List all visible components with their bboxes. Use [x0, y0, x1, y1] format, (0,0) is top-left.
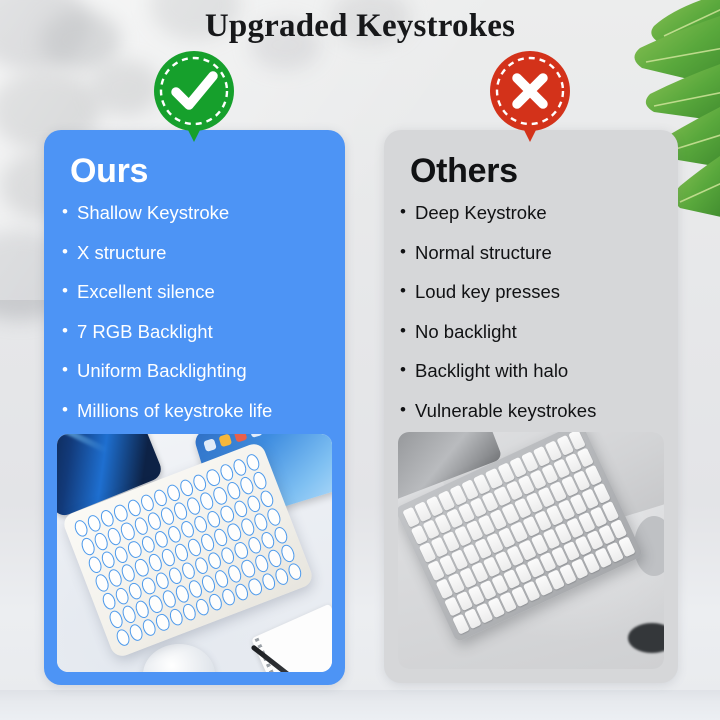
- list-item: Millions of keystroke life: [62, 400, 334, 421]
- check-circle-icon: [153, 50, 235, 146]
- list-item: Vulnerable keystrokes: [400, 400, 672, 421]
- list-item: Uniform Backlighting: [62, 360, 334, 381]
- floor-line: [0, 690, 720, 720]
- infographic-page: Upgraded Keystrokes Ours Shallow Keystro…: [0, 0, 720, 720]
- list-item: Loud key presses: [400, 281, 672, 302]
- list-item: Backlight with halo: [400, 360, 672, 381]
- list-item: Excellent silence: [62, 281, 334, 302]
- list-item: 7 RGB Backlight: [62, 321, 334, 342]
- cross-circle-icon: [489, 50, 571, 146]
- others-keyboard-photo: [398, 432, 664, 669]
- feature-list-ours: Shallow Keystroke X structure Excellent …: [62, 202, 334, 439]
- list-item: Normal structure: [400, 242, 672, 263]
- card-heading-others: Others: [410, 152, 518, 191]
- list-item: Deep Keystroke: [400, 202, 672, 223]
- list-item: Shallow Keystroke: [62, 202, 334, 223]
- feature-list-others: Deep Keystroke Normal structure Loud key…: [400, 202, 672, 439]
- list-item: X structure: [62, 242, 334, 263]
- card-heading-ours: Ours: [70, 152, 148, 191]
- list-item: No backlight: [400, 321, 672, 342]
- page-title: Upgraded Keystrokes: [0, 8, 720, 45]
- comparison-card-others: Others Deep Keystroke Normal structure L…: [384, 130, 678, 683]
- comparison-card-ours: Ours Shallow Keystroke X structure Excel…: [44, 130, 345, 685]
- ours-keyboard-photo: [57, 434, 332, 672]
